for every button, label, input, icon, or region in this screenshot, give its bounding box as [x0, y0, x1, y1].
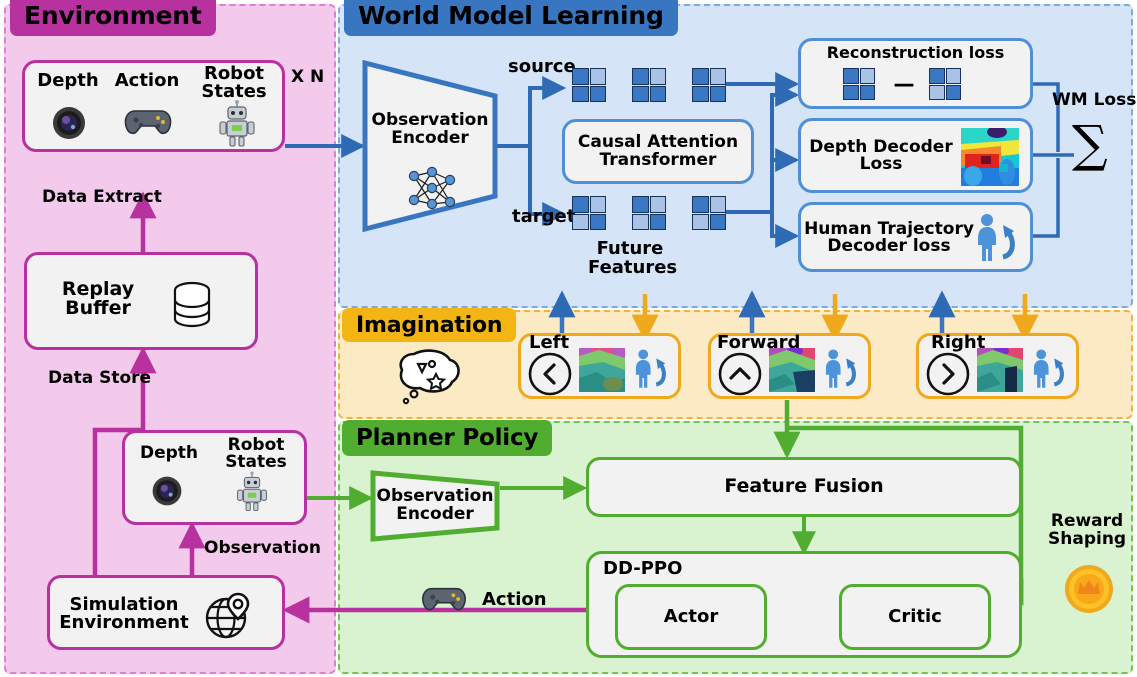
source-label: source [508, 58, 576, 77]
database-icon [167, 281, 217, 329]
imagined-view-forward [769, 348, 815, 392]
replay-buffer-card: Replay Buffer [24, 252, 258, 350]
wm-loss-label: WM Loss [1052, 92, 1136, 110]
ddppo-card: DD-PPO Actor Critic [586, 551, 1022, 658]
actor-label: Actor [664, 608, 718, 626]
robot-icon [235, 469, 269, 513]
transformer-label: Causal Attention Transformer [578, 134, 738, 169]
env-robot-states-label: Robot States [189, 65, 279, 102]
gamepad-icon [420, 583, 468, 615]
camera-lens-icon [149, 473, 185, 509]
critic-label: Critic [888, 608, 942, 626]
source-token-2 [692, 68, 726, 102]
human-trajectory-decoder-loss-card: Human Trajectory Decoder loss [798, 202, 1033, 272]
feature-fusion-card: Feature Fusion [586, 457, 1022, 517]
edge-label-data-store: Data Store [48, 370, 151, 388]
reconstruction-left-token [843, 68, 875, 100]
reconstruction-right-token [929, 68, 961, 100]
replay-buffer-label: Replay Buffer [43, 280, 153, 319]
reconstruction-loss-card: Reconstruction loss — [798, 38, 1033, 109]
obs-robot-states-label: Robot States [213, 437, 299, 472]
planner-encoder-label: Observation Encoder [370, 488, 500, 524]
section-header-planner-policy: Planner Policy [342, 420, 552, 456]
future-features-label: Future Features [588, 240, 672, 278]
pedestrian-trajectory-icon [1029, 347, 1073, 391]
actor-card: Actor [615, 584, 767, 650]
imagined-view-right [977, 348, 1023, 392]
depth-map-thumbnail [961, 128, 1019, 186]
wm-encoder-label: Observation Encoder [362, 112, 498, 148]
depth-decoder-loss-card: Depth Decoder Loss [798, 118, 1033, 193]
section-header-imagination: Imagination [342, 308, 516, 342]
obs-depth-label: Depth [133, 445, 205, 462]
edge-label-observation: Observation [204, 540, 321, 558]
env-depth-label: Depth [31, 72, 105, 90]
critic-card: Critic [839, 584, 991, 650]
simulation-environment-card: Simulation Environment [47, 575, 285, 650]
wm-observation-encoder: Observation Encoder [362, 60, 498, 232]
chevron-up-circle-icon[interactable] [718, 352, 762, 396]
imagination-action-forward[interactable]: Forward [708, 333, 871, 399]
simulation-environment-label: Simulation Environment [54, 596, 194, 633]
reward-shaping-label: Reward Shaping [1048, 513, 1126, 549]
edge-label-data-extract: Data Extract [42, 189, 162, 207]
source-token-1 [632, 68, 666, 102]
chevron-right-circle-icon[interactable] [926, 352, 970, 396]
sum-symbol: ∑ [1072, 118, 1108, 171]
section-header-world-model: World Model Learning [344, 0, 678, 36]
reconstruction-loss-label: Reconstruction loss [801, 45, 1030, 61]
causal-attention-transformer: Causal Attention Transformer [562, 119, 754, 184]
neural-net-icon [404, 162, 460, 216]
target-token-0 [572, 196, 606, 230]
human-trajectory-decoder-loss-label: Human Trajectory Decoder loss [803, 221, 975, 256]
source-token-0 [572, 68, 606, 102]
globe-pin-icon [202, 590, 254, 642]
imagination-action-left[interactable]: Left [518, 333, 681, 399]
coin-icon [1063, 563, 1115, 615]
planner-observation-encoder: Observation Encoder [370, 470, 500, 542]
section-header-environment: Environment [10, 0, 216, 36]
chevron-left-circle-icon[interactable] [528, 352, 572, 396]
pedestrian-trajectory-icon [821, 347, 865, 391]
env-action-label: Action [107, 72, 187, 90]
gamepad-icon [123, 105, 173, 139]
imagination-action-right[interactable]: Right [916, 333, 1079, 399]
env-observation-card: Depth Robot States [122, 430, 307, 525]
imagination-action-left-label: Left [529, 334, 569, 352]
target-label: target [512, 208, 575, 227]
pedestrian-trajectory-icon [631, 347, 675, 391]
camera-lens-icon [49, 103, 89, 143]
target-token-1 [632, 196, 666, 230]
imagined-view-left [579, 348, 625, 392]
env-repeat-count: X N [291, 69, 324, 87]
depth-decoder-loss-label: Depth Decoder Loss [805, 139, 957, 174]
edge-label-action: Action [482, 591, 547, 610]
thought-bubble-icon [392, 348, 464, 412]
robot-icon [217, 99, 257, 147]
pedestrian-trajectory-icon [973, 211, 1025, 265]
feature-fusion-label: Feature Fusion [724, 477, 883, 496]
target-token-2 [692, 196, 726, 230]
env-data-card: Depth Action Robot States [22, 60, 285, 152]
reconstruction-operator: — [889, 74, 919, 95]
ddppo-label: DD-PPO [603, 560, 682, 578]
